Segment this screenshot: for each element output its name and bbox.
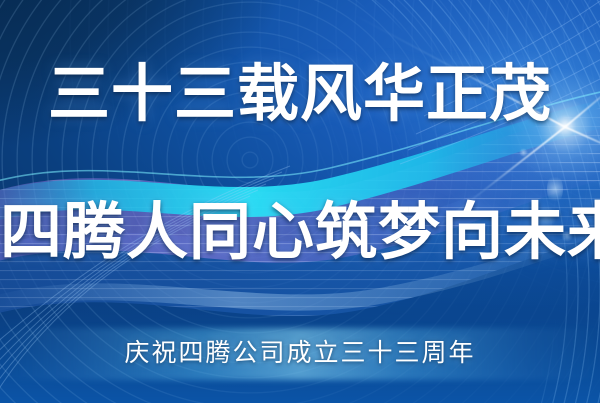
headline-line-1: 三十三载风华正茂 — [0, 60, 600, 130]
poster-canvas: 三十三载风华正茂 四腾人同心筑梦向未来 庆祝四腾公司成立三十三周年 — [0, 0, 600, 403]
headline-line-2: 四腾人同心筑梦向未来 — [0, 198, 600, 268]
bokeh-circle — [519, 148, 528, 157]
subtitle-text: 庆祝四腾公司成立三十三周年 — [0, 337, 600, 371]
